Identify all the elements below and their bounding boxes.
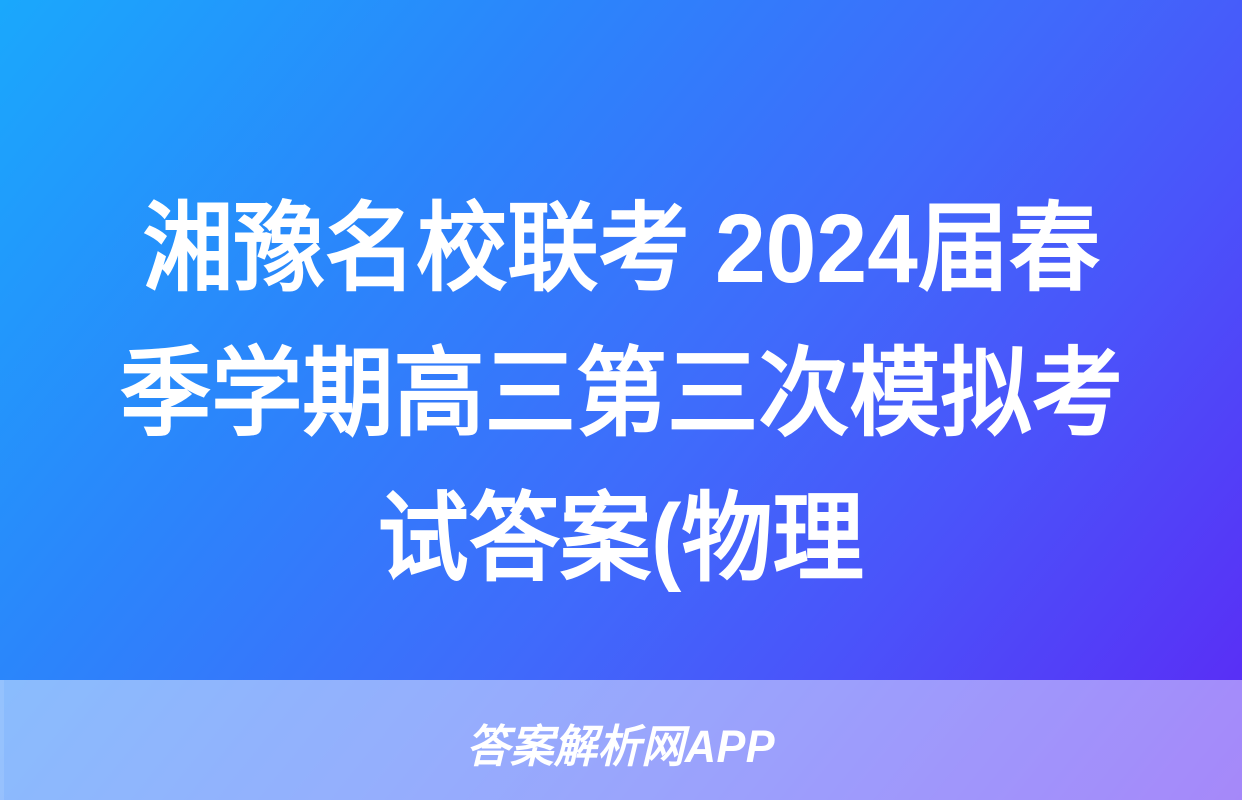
- headline-line-2: 季学期高三第三次模拟考: [120, 321, 1123, 466]
- answer-poster-banner: 湘豫名校联考 2024届春 季学期高三第三次模拟考 试答案(物理 答案解析网AP…: [0, 0, 1242, 800]
- headline-block: 湘豫名校联考 2024届春 季学期高三第三次模拟考 试答案(物理: [0, 176, 1242, 636]
- footer-brand-label: 答案解析网APP: [467, 710, 776, 775]
- footer-brand-band: 答案解析网APP: [0, 680, 1242, 800]
- headline-line-3: 试答案(物理: [378, 466, 864, 611]
- headline-line-1: 湘豫名校联考 2024届春: [142, 176, 1100, 321]
- footer-left-edge-strip: [0, 680, 4, 800]
